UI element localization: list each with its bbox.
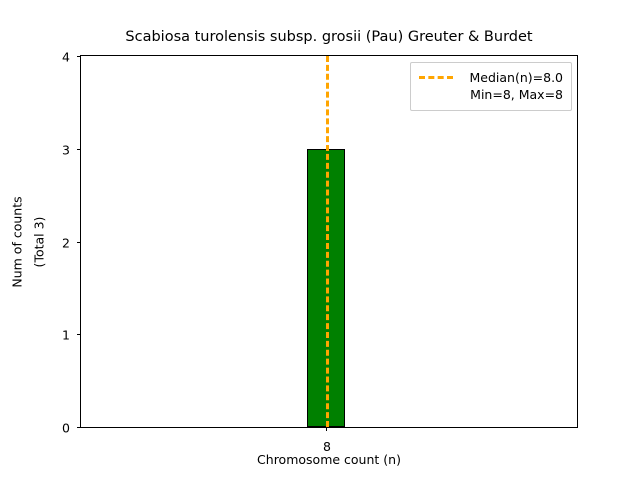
- y-tick-label-1: 1: [62, 328, 70, 343]
- legend-label-median: Median(n)=8.0: [470, 69, 564, 86]
- legend-dashed-line-icon: [419, 76, 453, 79]
- y-axis-label-line-2: (Total 3): [32, 216, 47, 267]
- y-axis-label-line-1: Num of counts: [10, 196, 25, 287]
- y-tick-label-3: 3: [62, 142, 70, 157]
- y-tick-mark-0: 0: [77, 427, 81, 428]
- x-axis-label: Chromosome count (n): [80, 452, 578, 467]
- legend-label-minmax: Min=8, Max=8: [470, 86, 563, 103]
- legend-entry: Median(n)=8.0 Min=8, Max=8: [462, 69, 563, 103]
- legend[interactable]: Median(n)=8.0 Min=8, Max=8: [410, 62, 572, 111]
- data-canvas: [81, 56, 577, 427]
- chart-figure: Scabiosa turolensis subsp. grosii (Pau) …: [0, 0, 640, 480]
- y-tick-label-4: 4: [62, 50, 70, 65]
- y-tick-label-2: 2: [62, 235, 70, 250]
- chart-title: Scabiosa turolensis subsp. grosii (Pau) …: [80, 28, 578, 46]
- y-axis-label: Num of counts (Total 3): [0, 55, 56, 428]
- x-tick-mark-0: 8: [326, 427, 327, 431]
- y-tick-label-0: 0: [62, 421, 70, 436]
- median-line: [326, 56, 329, 427]
